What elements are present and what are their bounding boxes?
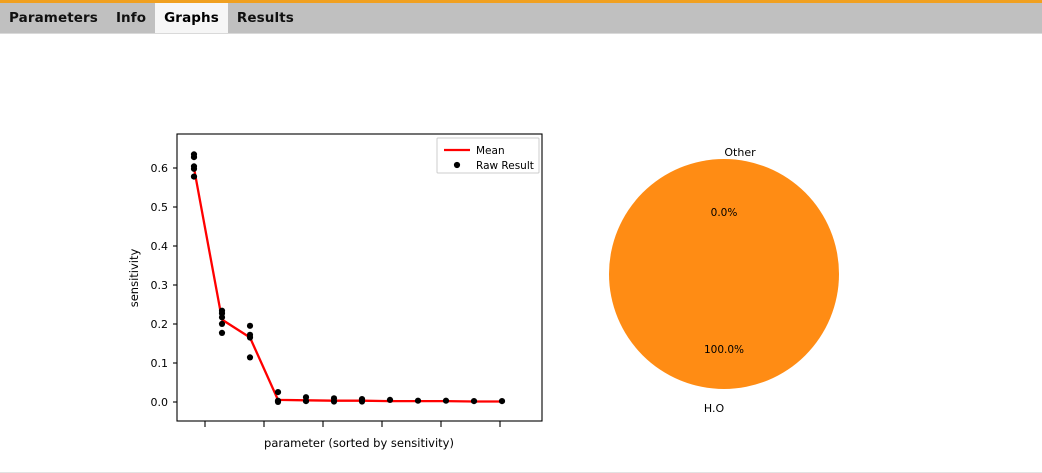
y-tick-label: 0.6: [151, 162, 169, 175]
sensitivity-line-chart: 0.0 0.1 0.2 0.3 0.4 0.5 0.6 parameter: [120, 96, 560, 456]
tab-parameters-label: Parameters: [9, 10, 98, 26]
legend-raw-label: Raw Result: [476, 160, 534, 172]
pie-percent-other: 0.0%: [711, 207, 738, 219]
pie-label-other: Other: [724, 146, 756, 159]
legend-raw-swatch: [454, 162, 460, 168]
tab-bar: Parameters Info Graphs Results: [0, 0, 1042, 33]
chart-legend: Mean Raw Result: [437, 138, 539, 173]
x-axis-title: parameter (sorted by sensitivity): [264, 436, 454, 450]
graphs-panel: 0.0 0.1 0.2 0.3 0.4 0.5 0.6 parameter: [0, 33, 1042, 473]
y-axis-ticks: [173, 168, 177, 402]
pie-percent-h2o: 100.0%: [704, 344, 744, 356]
y-tick-label: 0.1: [151, 357, 169, 370]
tab-results[interactable]: Results: [228, 3, 303, 33]
tab-graphs[interactable]: Graphs: [155, 3, 228, 33]
tab-parameters[interactable]: Parameters: [0, 3, 107, 33]
y-axis-tick-labels: 0.0 0.1 0.2 0.3 0.4 0.5 0.6: [151, 162, 169, 409]
y-tick-label: 0.2: [151, 318, 169, 331]
tab-info-label: Info: [116, 10, 146, 26]
composition-pie-chart: Other 0.0% 100.0% H.O: [586, 96, 886, 436]
y-tick-label: 0.4: [151, 240, 169, 253]
tab-graphs-label: Graphs: [164, 10, 219, 26]
pie-label-h2o: H.O: [704, 402, 725, 415]
y-tick-label: 0.0: [151, 396, 169, 409]
plot-frame: [177, 134, 542, 421]
figure-area: 0.0 0.1 0.2 0.3 0.4 0.5 0.6 parameter: [0, 34, 1042, 472]
tab-info[interactable]: Info: [107, 3, 155, 33]
y-axis-title: sensitivity: [127, 249, 141, 308]
tab-results-label: Results: [237, 10, 294, 26]
legend-mean-label: Mean: [476, 145, 505, 157]
y-tick-label: 0.3: [151, 279, 169, 292]
x-axis-ticks: [205, 421, 500, 427]
y-tick-label: 0.5: [151, 201, 169, 214]
